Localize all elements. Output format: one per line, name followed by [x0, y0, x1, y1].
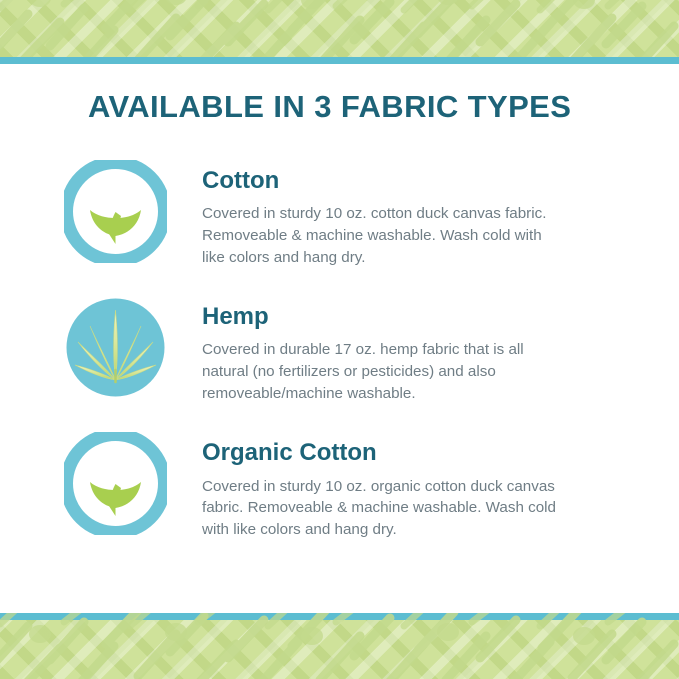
main-content: AVAILABLE IN 3 FABRIC TYPES [0, 64, 679, 613]
top-decorative-band [0, 0, 679, 64]
bottom-band-green-fill [0, 620, 679, 679]
fabric-description: Covered in durable 17 oz. hemp fabric th… [202, 339, 562, 405]
fabric-description: Covered in sturdy 10 oz. organic cotton … [202, 476, 562, 542]
top-band-dash-strokes [0, 0, 679, 64]
fabric-description: Covered in sturdy 10 oz. cotton duck can… [202, 203, 562, 269]
page-title: AVAILABLE IN 3 FABRIC TYPES [88, 89, 571, 125]
fabric-text-hemp: Hemp Covered in durable 17 oz. hemp fabr… [167, 296, 679, 405]
top-band-teal-rule [0, 57, 679, 64]
bottom-band-dash-strokes [0, 613, 679, 679]
fabric-text-organic-cotton: Organic Cotton Covered in sturdy 10 oz. … [167, 432, 679, 541]
fabric-row-cotton: Cotton Covered in sturdy 10 oz. cotton d… [0, 160, 679, 269]
fabric-row-hemp: Hemp Covered in durable 17 oz. hemp fabr… [0, 296, 679, 405]
bottom-decorative-band [0, 613, 679, 679]
cotton-boll-icon [64, 432, 167, 535]
fabric-type-list: Cotton Covered in sturdy 10 oz. cotton d… [0, 160, 679, 568]
fabric-name: Organic Cotton [202, 440, 679, 466]
fabric-name: Hemp [202, 304, 679, 330]
fabric-types-infographic: AVAILABLE IN 3 FABRIC TYPES [0, 0, 679, 679]
hemp-leaf-icon [64, 296, 167, 399]
top-band-green-fill [0, 0, 679, 58]
cotton-boll-icon [64, 160, 167, 263]
fabric-name: Cotton [202, 168, 679, 194]
fabric-text-cotton: Cotton Covered in sturdy 10 oz. cotton d… [167, 160, 679, 269]
fabric-row-organic-cotton: Organic Cotton Covered in sturdy 10 oz. … [0, 432, 679, 541]
